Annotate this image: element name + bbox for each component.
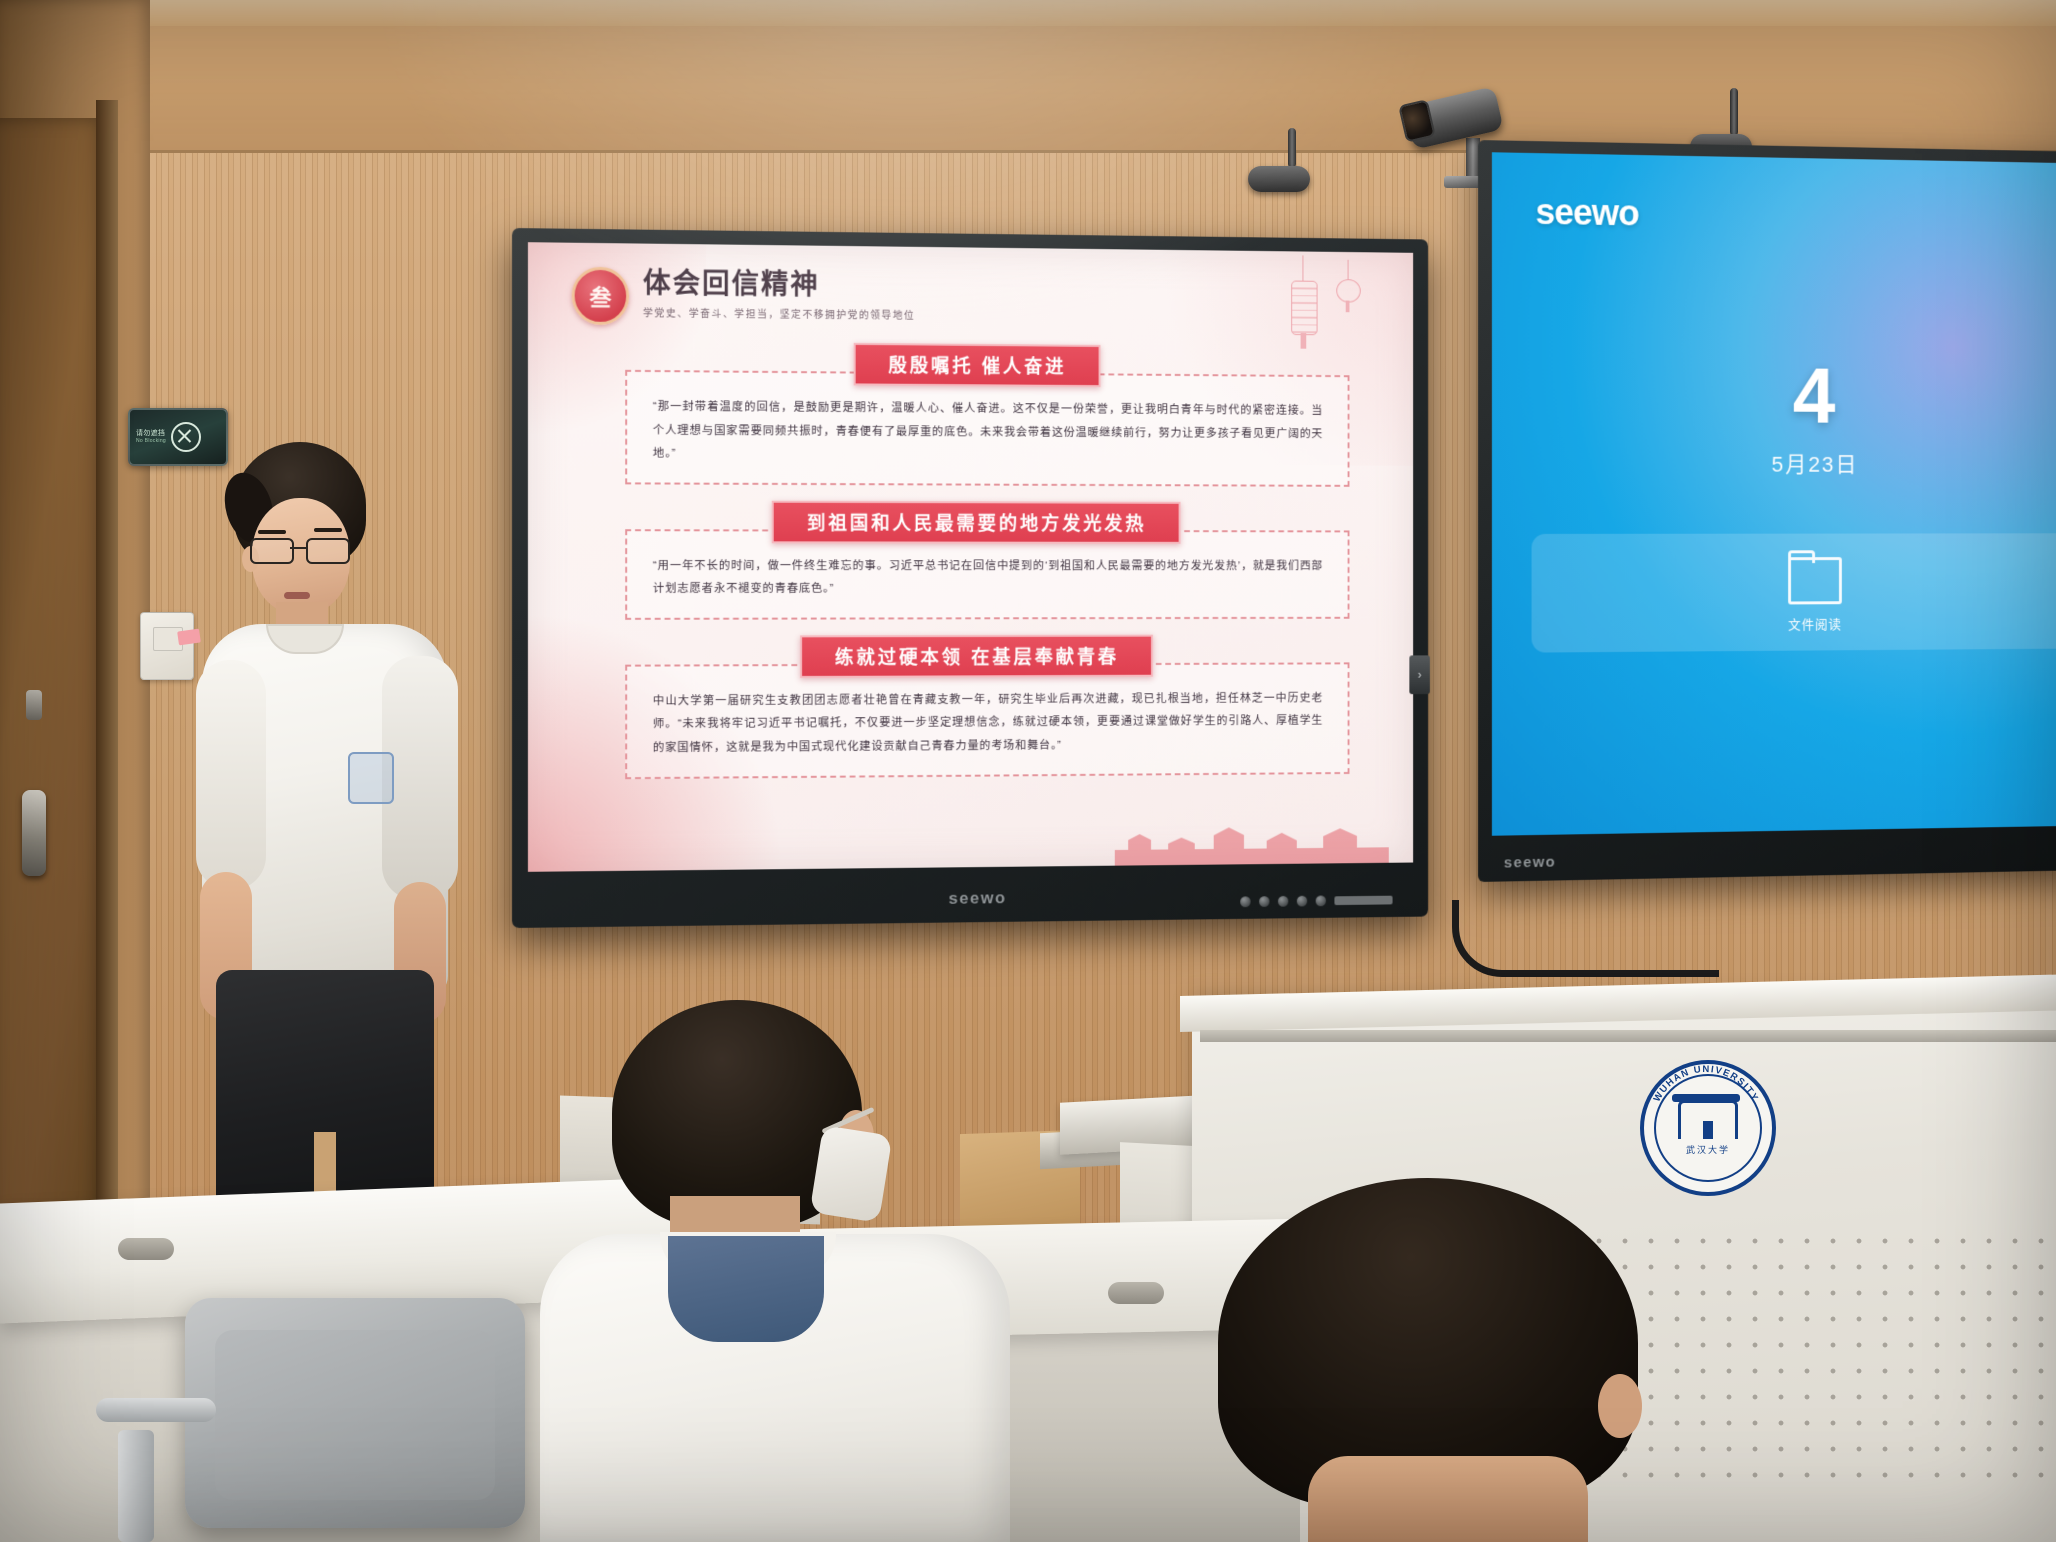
slide-section-2: 到祖国和人民最需要的地方发光发热 “用一年不长的时间，做一件终生难忘的事。习近平… xyxy=(558,500,1385,620)
slide-subtitle: 学党史、学奋斗、学担当，坚定不移拥护党的领导地位 xyxy=(643,304,915,321)
clock-time: 4 xyxy=(1492,348,2056,442)
port-dot xyxy=(1297,896,1307,907)
shirt-graphic-icon xyxy=(348,752,394,804)
seated-person-center xyxy=(520,1000,1040,1542)
glasses-icon xyxy=(248,538,352,560)
face-mask-icon xyxy=(810,1125,893,1223)
section-2-banner: 到祖国和人民最需要的地方发光发热 xyxy=(772,500,1181,543)
foreground-person-ear xyxy=(1598,1374,1642,1438)
section-banner-wrap: 殷殷嘱托 催人奋进 xyxy=(558,340,1385,389)
section-banner-wrap: 到祖国和人民最需要的地方发光发热 xyxy=(558,500,1385,544)
slide-title: 体会回信精神 xyxy=(643,268,915,301)
section-1-banner: 殷殷嘱托 催人奋进 xyxy=(854,343,1101,387)
chair-backrest-inner xyxy=(215,1330,495,1500)
door-frame xyxy=(96,100,118,1240)
display-cable xyxy=(1452,900,1719,977)
display-brand-logo: seewo xyxy=(949,888,1007,908)
screenshot-root: 请勿遮挡 No Blocking xyxy=(0,0,2056,1542)
chair-armrest xyxy=(96,1398,216,1422)
presenter-sleeve-left xyxy=(196,660,266,890)
port-dot xyxy=(1316,895,1326,906)
wall-sign-label: 请勿遮挡 No Blocking xyxy=(136,430,166,445)
tile-file-reader-label: 文件阅读 xyxy=(1752,614,1877,633)
seewo-clock: 4 5月23日 xyxy=(1492,348,2056,479)
slide-section-badge: 叁 xyxy=(572,267,629,325)
section-3-banner: 练就过硬本领 在基层奉献青春 xyxy=(800,634,1153,677)
presenter-brow-left xyxy=(258,530,286,534)
door-lock[interactable] xyxy=(26,690,42,720)
glasses-lens-left xyxy=(250,538,294,564)
seewo-wordmark: seewo xyxy=(1536,191,1639,234)
desk-grommet xyxy=(118,1238,174,1260)
chair-post xyxy=(118,1430,154,1542)
port-dot xyxy=(1259,896,1269,907)
port-usb xyxy=(1334,896,1392,905)
section-3-box: 中山大学第一届研究生支教团团志愿者壮艳曾在青藏支教一年，研究生毕业后再次进藏，现… xyxy=(625,662,1349,778)
seewo-tile-row: 快捷白板 文件阅读 xyxy=(1532,533,2056,652)
wall-light-switch[interactable] xyxy=(140,612,194,680)
glasses-bridge xyxy=(290,547,306,549)
wall-sign-subtext: No Blocking xyxy=(136,438,166,444)
wu-logo-ring-text: WUHAN UNIVERSITY xyxy=(1640,1058,1772,1190)
second-display-brand-logo: seewo xyxy=(1504,854,1556,872)
presentation-slide: 叁 体会回信精神 学党史、学奋斗、学担当，坚定不移拥护党的领导地位 殷殷嘱托 催… xyxy=(528,242,1413,872)
display-screen[interactable]: 叁 体会回信精神 学党史、学奋斗、学担当，坚定不移拥护党的领导地位 殷殷嘱托 催… xyxy=(528,242,1413,872)
section-2-body: “用一年不长的时间，做一件终生难忘的事。习近平总书记在回信中提到的‘到祖国和人民… xyxy=(653,555,1323,602)
tile-file-reader[interactable]: 文件阅读 xyxy=(1752,557,1877,633)
desk-grommet xyxy=(1108,1282,1164,1304)
podium-rail xyxy=(1200,1030,2056,1042)
presenter-brow-right xyxy=(314,528,342,532)
display-bezel: 叁 体会回信精神 学党史、学奋斗、学担当，坚定不移拥护党的领导地位 殷殷嘱托 催… xyxy=(512,228,1428,928)
city-silhouette-decor xyxy=(1115,814,1389,865)
second-display-screen[interactable]: seewo 4 5月23日 快捷白板 文件阅读 xyxy=(1492,152,2056,835)
presenter-mouth xyxy=(284,592,310,599)
clock-date: 5月23日 xyxy=(1492,446,2056,479)
second-interactive-display[interactable]: seewo 4 5月23日 快捷白板 文件阅读 seewo xyxy=(1478,140,2056,882)
foreground-person-neck xyxy=(1308,1456,1588,1542)
section-banner-wrap: 练就过硬本领 在基层奉献青春 xyxy=(558,634,1385,679)
wall-sign-text: 请勿遮挡 xyxy=(136,430,165,437)
display-side-button[interactable]: › xyxy=(1409,655,1430,694)
tile-whiteboard-label: 快捷白板 xyxy=(2025,810,2056,829)
presenter-student xyxy=(196,442,476,1302)
slide-header-texts: 体会回信精神 学党史、学奋斗、学担当，坚定不移拥护党的领导地位 xyxy=(643,267,915,321)
slide-section-3: 练就过硬本领 在基层奉献青春 中山大学第一届研究生支教团团志愿者壮艳曾在青藏支教… xyxy=(558,634,1385,779)
slide-header: 叁 体会回信精神 学党史、学奋斗、学担当，坚定不移拥护党的领导地位 xyxy=(572,267,1385,332)
section-3-body: 中山大学第一届研究生支教团团志愿者壮艳曾在青藏支教一年，研究生毕业后再次进藏，现… xyxy=(653,688,1323,761)
seated-person-collar xyxy=(668,1236,824,1342)
folder-icon xyxy=(1788,557,1842,604)
lamp-arm xyxy=(1288,128,1296,168)
port-dot xyxy=(1240,896,1250,907)
tile-whiteboard[interactable]: 快捷白板 xyxy=(2025,755,2056,836)
lamp-head xyxy=(1248,166,1310,192)
second-display-bezel: seewo 4 5月23日 快捷白板 文件阅读 seewo xyxy=(1478,140,2056,882)
door-handle[interactable] xyxy=(22,790,46,876)
glasses-lens-right xyxy=(306,538,350,564)
main-interactive-display[interactable]: 叁 体会回信精神 学党史、学奋斗、学担当，坚定不移拥护党的领导地位 殷殷嘱托 催… xyxy=(512,228,1428,928)
ceiling-strip xyxy=(150,0,2056,26)
section-1-body: “那一封带着温度的回信，是鼓励更是期许，温暖人心、催人奋进。这不仅是一份荣誉，更… xyxy=(653,396,1323,469)
port-dot xyxy=(1278,896,1288,907)
slide-section-1: 殷殷嘱托 催人奋进 “那一封带着温度的回信，是鼓励更是期许，温暖人心、催人奋进。… xyxy=(558,340,1385,486)
lamp-arm xyxy=(1730,88,1738,136)
svg-text:WUHAN UNIVERSITY: WUHAN UNIVERSITY xyxy=(1652,1064,1761,1104)
seated-person-foreground xyxy=(1158,1178,1778,1542)
display-port-row xyxy=(1240,895,1392,907)
